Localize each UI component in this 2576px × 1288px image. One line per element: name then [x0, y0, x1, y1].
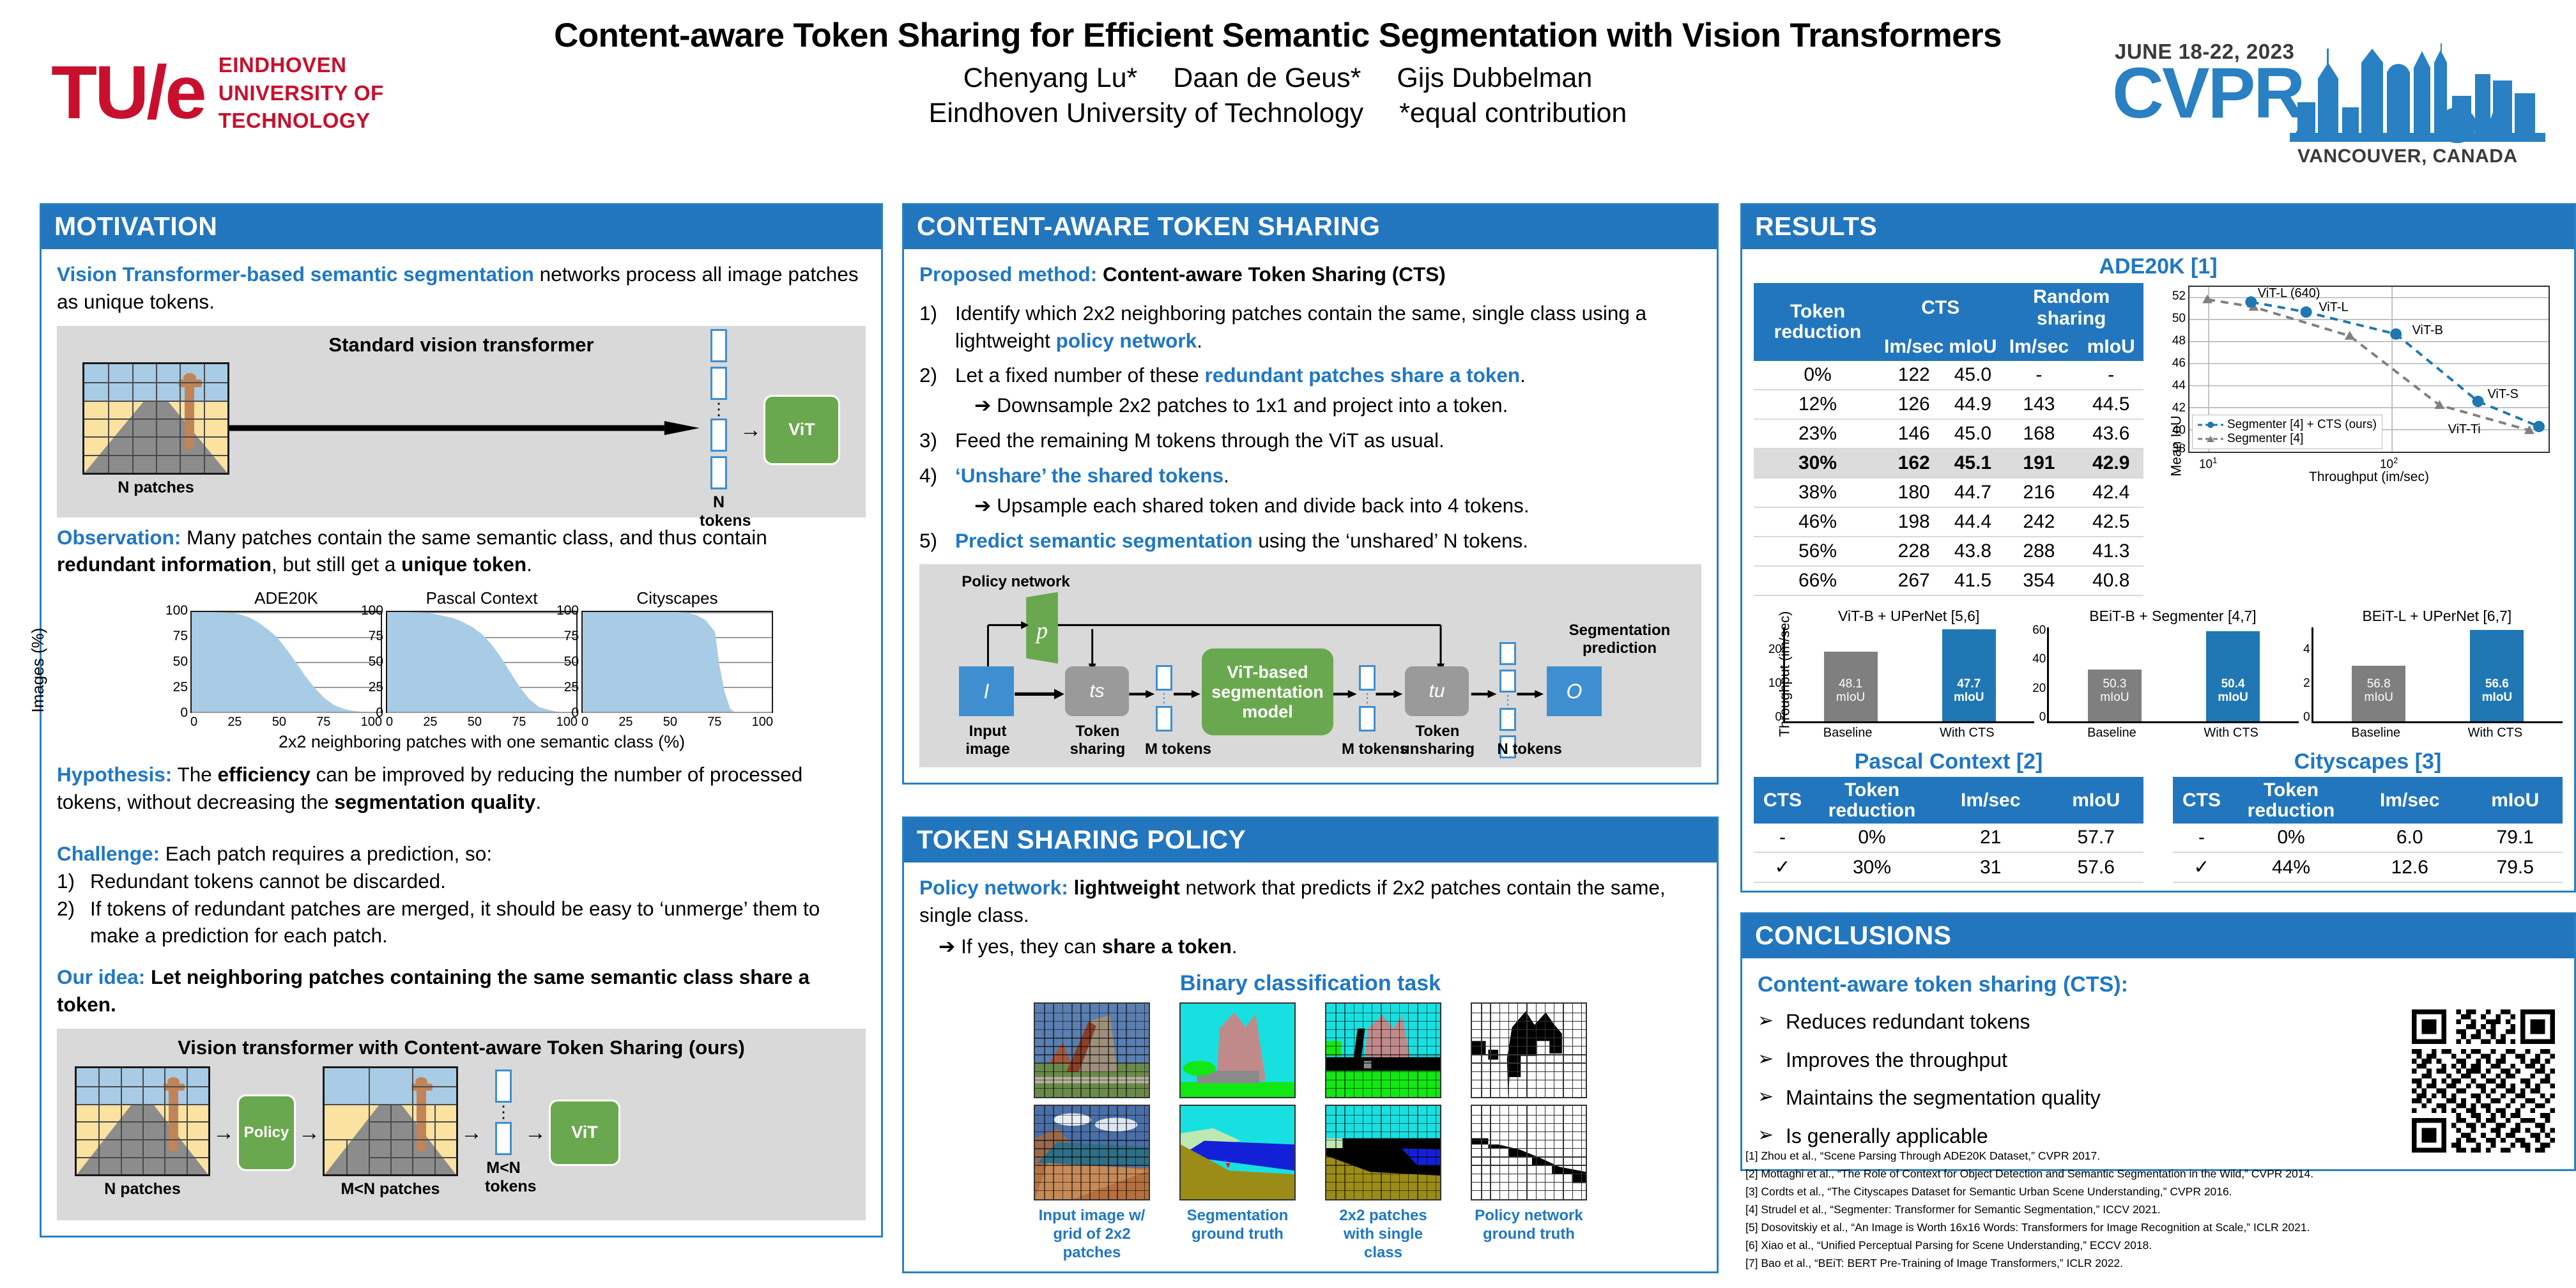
histogram-plot-2	[581, 611, 773, 713]
tradeoff-xticks: 101 102	[2188, 456, 2550, 470]
legend-item-cts: Segmenter [4] + CTS (ours)	[2198, 418, 2377, 432]
cell-token-reduction: 23%	[1754, 419, 1882, 448]
reference-item: [7] Bao et al., “BEiT: BERT Pre-Training…	[1745, 1254, 2576, 1272]
motivation-intro: Vision Transformer-based semantic segmen…	[57, 261, 866, 316]
challenge-label: Challenge:	[57, 842, 160, 865]
tue-logo-line3: TECHNOLOGY	[218, 107, 384, 135]
motivation-challenge-intro: Challenge: Each patch requires a predict…	[57, 840, 866, 868]
bar-xlabel-with-cts: With CTS	[2468, 726, 2523, 740]
annotation-vit-ti: ViT-Ti	[2448, 422, 2481, 437]
grid-overlay	[84, 364, 227, 473]
qr-code-icon[interactable]	[2412, 1009, 2555, 1153]
table-ade20k-body: 0% 122 45.0 - - 12% 126 44.9 143	[1754, 361, 2143, 595]
th-miou: mIoU	[2467, 777, 2563, 824]
cell-cts-imsec: 180	[1882, 478, 1946, 507]
thumbnail-caption-segmentation: Segmentation ground truth	[1179, 1207, 1296, 1244]
observation-label: Observation:	[57, 526, 181, 549]
policy-description: Policy network: lightweight network that…	[919, 874, 1701, 929]
figure-cts-pipeline: Policy network	[919, 564, 1701, 767]
observation-text-1: Many patches contain the same semantic c…	[181, 526, 767, 549]
conclusion-item-text: Is generally applicable	[1786, 1123, 1988, 1151]
cell-rnd-miou: 42.4	[2078, 478, 2143, 507]
motivation-intro-bold: Vision Transformer-based semantic segmen…	[57, 263, 534, 286]
cts-step-highlight: policy network	[1056, 329, 1197, 352]
bar-chart-vitb-upernet: ViT-B + UPerNet [5,6] 01020 48.1 mIoU 47…	[1783, 608, 2034, 740]
chevron-right-icon: ➢	[1758, 1008, 1786, 1036]
figure2-label-tokens: M<N tokens	[485, 1159, 522, 1196]
equal-contribution-note: *equal contribution	[1399, 98, 1627, 128]
cell-rnd-miou: -	[2078, 361, 2143, 390]
cell-cts: -	[1754, 824, 1811, 852]
motivation-body: Vision Transformer-based semantic segmen…	[42, 249, 881, 1236]
pipeline-token-sharing-node: ts	[1065, 666, 1129, 716]
cell-cts-imsec: 126	[1882, 390, 1946, 419]
chart-generality-bars: Throughput (im/sec) ViT-B + UPerNet [5,6…	[1754, 608, 2563, 740]
patch-grid-overlay	[1472, 1004, 1586, 1097]
cts-step-highlight: ‘Unshare’ the shared tokens	[955, 464, 1223, 487]
proposed-method-value: Content-aware Token Sharing (CTS)	[1097, 263, 1445, 286]
bar-xlabel-baseline: Baseline	[2351, 726, 2400, 740]
annotation-vit-s: ViT-S	[2487, 387, 2518, 402]
affiliation: Eindhoven University of Technology	[929, 98, 1363, 128]
cell-imsec: 12.6	[2352, 852, 2467, 882]
cts-step-number: 3)	[919, 427, 955, 454]
hypothesis-end: .	[535, 790, 541, 813]
th-cts: CTS	[1754, 777, 1811, 824]
pipeline-diagram: Policy network	[919, 564, 1701, 775]
policy-substep-end: .	[1232, 935, 1238, 958]
pipeline-input-node: I	[959, 666, 1014, 716]
bar-xlabel-baseline: Baseline	[1823, 726, 1873, 740]
legend-item-baseline: Segmenter [4]	[2198, 432, 2377, 446]
patch-grid-overlay	[1472, 1106, 1586, 1199]
cell-token-reduction: 0%	[1811, 824, 1933, 852]
conclusions-heading: CONCLUSIONS	[1742, 914, 2574, 958]
panel-conclusions: CONCLUSIONS Content-aware token sharing …	[1740, 912, 2576, 1171]
table-ade20k-wrapper: Token reduction CTS Random sharing Im/se…	[1754, 283, 2143, 596]
policy-network-label: Policy network:	[919, 876, 1068, 899]
figure-cts-vit: Vision transformer with Content-aware To…	[57, 1029, 866, 1220]
reference-item: [3] Cordts et al., “The Cityscapes Datas…	[1745, 1183, 2576, 1200]
cts-step: 1) Identify which 2x2 neighboring patche…	[919, 300, 1701, 355]
chevron-right-icon: ➢	[1758, 1123, 1786, 1151]
bar-yticks-0: 01020	[1764, 622, 1782, 717]
reference-item: [1] Zhou et al., “Scene Parsing Through …	[1745, 1147, 2576, 1165]
th-token-reduction: Token reduction	[1754, 283, 1882, 361]
table-row: 38% 180 44.7 216 42.4	[1754, 478, 2143, 507]
table-row: - 0% 6.0 79.1	[2173, 824, 2563, 852]
table-row: 23% 146 45.0 168 43.6	[1754, 419, 2143, 448]
patch-grid-overlay	[1326, 1004, 1440, 1097]
our-idea-text: Let neighboring patches containing the s…	[57, 965, 809, 1016]
table-pascal-wrapper: Pascal Context [2] CTS Token reduction I…	[1754, 749, 2143, 883]
table-cityscapes-body: - 0% 6.0 79.1 ✓ 44% 12.6 79.5	[2173, 824, 2563, 882]
arrow-right-icon	[229, 420, 700, 436]
thumbnail-seg-beach	[1179, 1105, 1296, 1200]
cityscapes-title: Cityscapes [3]	[2173, 749, 2563, 774]
secondary-tables-row: Pascal Context [2] CTS Token reduction I…	[1754, 749, 2563, 883]
bar-chart-title-1: BEiT-B + Segmenter [4,7]	[2047, 608, 2298, 625]
challenge-item: 1)Redundant tokens cannot be discarded.	[57, 868, 866, 895]
table-row: - 0% 21 57.7	[1754, 824, 2143, 852]
cts-step-number: 5)	[919, 527, 955, 555]
cts-step-substep: ➔ Upsample each shared token and divide …	[955, 492, 1701, 519]
policy-body: Policy network: lightweight network that…	[904, 862, 1717, 1271]
histogram-xticks-1: 0255075100	[386, 715, 578, 730]
histogram-ylabel: Images (%)	[28, 628, 48, 713]
reference-item: [2] Mottaghi et al., “The Role of Contex…	[1745, 1165, 2576, 1183]
cell-rnd-imsec: 288	[1999, 537, 2078, 566]
cell-rnd-imsec: 191	[1999, 448, 2078, 478]
pipeline-label-unsharing: Token unsharing	[1400, 723, 1475, 758]
pipeline-model-node: ViT-based segmentation model	[1202, 648, 1333, 735]
cts-step-substep: ➔ Downsample 2x2 patches to 1x1 and proj…	[955, 392, 1701, 419]
patch-grid-after	[323, 1066, 458, 1176]
cell-rnd-miou: 44.5	[2078, 390, 2143, 419]
bar-value-label: 56.8 mIoU	[2365, 678, 2393, 705]
cell-token-reduction: 44%	[2230, 852, 2352, 882]
our-idea-label: Our idea:	[57, 965, 145, 988]
cell-rnd-miou: 42.5	[2078, 507, 2143, 537]
conclusion-item-text: Reduces redundant tokens	[1786, 1008, 2030, 1036]
cell-cts: ✓	[1754, 852, 1811, 882]
figure-standard-vit: Standard vision transformer	[57, 326, 866, 517]
motivation-hypothesis: Hypothesis: The efficiency can be improv…	[57, 761, 866, 816]
cts-step-number: 2)	[919, 362, 955, 419]
challenge-item-number: 1)	[57, 868, 90, 895]
histogram-plot-0	[190, 611, 382, 713]
pipeline-label-n-tokens: N tokens	[1482, 740, 1577, 758]
table-cityscapes-wrapper: Cityscapes [3] CTS Token reduction Im/se…	[2173, 749, 2563, 883]
model-line-2: segmentation	[1211, 682, 1324, 702]
cts-step: 4) ‘Unshare’ the shared tokens. ➔ Upsamp…	[919, 462, 1701, 519]
table-cityscapes: CTS Token reduction Im/sec mIoU - 0% 6.0…	[2173, 777, 2563, 883]
cts-step-post: .	[1223, 464, 1229, 487]
hypothesis-bold-1: efficiency	[218, 763, 310, 786]
bar-xlabel-baseline: Baseline	[2087, 726, 2136, 740]
cell-cts-miou: 44.7	[1946, 478, 1999, 507]
histogram-xticks-0: 0255075100	[190, 715, 382, 730]
cts-step-body: Feed the remaining M tokens through the …	[955, 427, 1701, 454]
challenge-intro-text: Each patch requires a prediction, so:	[160, 842, 492, 865]
author-3: Gijs Dubbelman	[1397, 63, 1592, 94]
bar-with-cts: 47.7 mIoU	[1942, 629, 1996, 721]
th-cts-imsec: Im/sec	[1882, 333, 1946, 361]
histogram-yticks-0: 1007550250	[161, 611, 189, 713]
table-row: 46% 198 44.4 242 42.5	[1754, 507, 2143, 537]
cts-step-highlight: redundant patches share a token	[1205, 364, 1521, 387]
th-cts-group: CTS	[1882, 283, 1999, 333]
motivation-heading: MOTIVATION	[42, 205, 881, 249]
reference-item: [6] Xiao et al., “Unified Perceptual Par…	[1745, 1236, 2576, 1254]
annotation-vit-l-640: ViT-L (640)	[2258, 286, 2320, 301]
panel-content-aware-token-sharing: CONTENT-AWARE TOKEN SHARING Proposed met…	[902, 203, 1719, 785]
cts-step: 2) Let a fixed number of these redundant…	[919, 362, 1701, 419]
tradeoff-legend: Segmenter [4] + CTS (ours) Segmenter [4]	[2192, 415, 2382, 449]
tue-logo: TU/e EINDHOVEN UNIVERSITY OF TECHNOLOGY	[51, 51, 384, 135]
tradeoff-plot-area: ViT-L (640) ViT-L ViT-B ViT-S ViT-Ti Seg…	[2188, 286, 2550, 453]
thumbnail-caption-single-class: 2x2 patches with single class	[1325, 1207, 1441, 1262]
cts-step-body: ‘Unshare’ the shared tokens. ➔ Upsample …	[955, 462, 1701, 519]
bar-yticks-1: 0204060	[2028, 622, 2046, 717]
panel-motivation: MOTIVATION Vision Transformer-based sema…	[40, 203, 883, 1238]
model-line-1: ViT-based	[1227, 663, 1308, 682]
cts-heading: CONTENT-AWARE TOKEN SHARING	[904, 205, 1717, 249]
conclusion-item-text: Improves the throughput	[1786, 1046, 2007, 1075]
pipeline-label-sharing: Token sharing	[1060, 723, 1135, 758]
poster-root: TU/e EINDHOVEN UNIVERSITY OF TECHNOLOGY …	[0, 0, 2576, 1288]
legend-marker-triangle-icon	[2198, 435, 2223, 443]
policy-substep: ➔ If yes, they can share a token.	[919, 933, 1701, 960]
token-column-standard: ⋮	[700, 329, 738, 490]
table-header-row: CTS Token reduction Im/sec mIoU	[1754, 777, 2143, 824]
pascal-title: Pascal Context [2]	[1754, 749, 2143, 774]
cell-cts-imsec: 228	[1882, 537, 1946, 566]
vit-box-cts: ViT	[549, 1100, 620, 1166]
patch-grid-standard	[82, 362, 229, 475]
histogram-yticks-2: 1007550250	[552, 611, 580, 713]
policy-column-segmentation: Segmentation ground truth	[1179, 1002, 1296, 1262]
svg-text:p: p	[1034, 617, 1048, 644]
histogram-cityscapes: Cityscapes 1007550250	[581, 588, 773, 730]
tradeoff-yticks: 52 50 48 46 44 42 40 38	[2166, 286, 2187, 453]
th-random-sharing-group: Random sharing	[1999, 283, 2143, 333]
cts-step-body: Predict semantic segmentation using the …	[955, 527, 1701, 555]
patch-grid-overlay	[1035, 1004, 1149, 1097]
cell-imsec: 6.0	[2352, 824, 2467, 852]
annotation-vit-b: ViT-B	[2412, 323, 2443, 338]
grid-overlay	[77, 1068, 208, 1174]
challenge-item-number: 2)	[57, 895, 90, 950]
bar-xlabels-1: Baseline With CTS	[2047, 726, 2298, 740]
cell-cts-miou: 45.1	[1946, 448, 1999, 478]
observation-bold-2: unique token	[401, 553, 526, 576]
histogram-title-0: ADE20K	[190, 588, 382, 608]
cell-cts-miou: 44.9	[1946, 390, 1999, 419]
histogram-xlabel: 2x2 neighboring patches with one semanti…	[98, 732, 866, 752]
thumbnail-input-beach	[1034, 1105, 1150, 1200]
cell-rnd-miou: 40.8	[2078, 566, 2143, 595]
patch-grid-overlay	[1326, 1106, 1440, 1199]
thumbnail-single-class-beach	[1325, 1105, 1441, 1200]
table-row: 56% 228 43.8 288 41.3	[1754, 537, 2143, 566]
pipeline-tokens-m2: ⋮	[1359, 665, 1376, 732]
cell-cts-miou: 44.4	[1946, 507, 1999, 537]
th-rnd-imsec: Im/sec	[1999, 333, 2078, 361]
tue-logo-words: EINDHOVEN UNIVERSITY OF TECHNOLOGY	[218, 51, 384, 135]
policy-column-input: Input image w/ grid of 2x2 patches	[1034, 1002, 1150, 1262]
cell-rnd-miou: 43.6	[2078, 419, 2143, 448]
cts-step: 5) Predict semantic segmentation using t…	[919, 527, 1701, 555]
hypothesis-text-1: The	[172, 763, 217, 786]
chevron-right-icon: ➢	[1758, 1046, 1786, 1075]
policy-column-ground-truth: Policy network ground truth	[1471, 1002, 1587, 1262]
thumbnail-seg-house	[1179, 1002, 1296, 1098]
cell-rnd-imsec: 242	[1999, 507, 2078, 537]
cvpr-name: CVPR	[2112, 57, 2303, 129]
conclusions-body: Content-aware token sharing (CTS): ➢Redu…	[1742, 958, 2574, 1169]
histogram-plot-1	[386, 611, 578, 713]
token-column-reduced: ⋮	[485, 1069, 522, 1155]
tradeoff-xlabel: Throughput (im/sec)	[2188, 470, 2550, 485]
bar-chart-beitl-upernet: BEiT-L + UPerNet [6,7] 024 56.8 mIoU 56.…	[2311, 608, 2563, 740]
cell-token-reduction: 30%	[1811, 852, 1933, 882]
patch-grid-before	[75, 1066, 210, 1176]
cts-step-number: 1)	[919, 300, 955, 355]
cts-step-number: 4)	[919, 462, 955, 519]
bar-chart-beitb-segmenter: BEiT-B + Segmenter [4,7] 0204060 50.3 mI…	[2047, 608, 2298, 740]
cts-body: Proposed method: Content-aware Token Sha…	[904, 249, 1717, 783]
binary-classification-title: Binary classification task	[919, 971, 1701, 996]
observation-text-2: , but still get a	[272, 553, 401, 576]
motivation-observation: Observation: Many patches contain the sa…	[57, 524, 866, 579]
cell-rnd-miou: 42.9	[2078, 448, 2143, 478]
bar-group-0: 48.1 mIoU 47.7 mIoU	[1783, 627, 2034, 723]
thumbnail-policy-gt-house	[1471, 1002, 1587, 1098]
cell-token-reduction: 12%	[1754, 390, 1882, 419]
cvpr-logo: JUNE 18-22, 2023 CVPR VANCOUVER, CANADA	[2098, 24, 2558, 171]
cell-rnd-imsec: -	[1999, 361, 2078, 390]
thumbnail-input-house	[1034, 1002, 1150, 1098]
cell-rnd-imsec: 216	[1999, 478, 2078, 507]
th-imsec: Im/sec	[1933, 777, 2048, 824]
cell-token-reduction: 46%	[1754, 507, 1882, 537]
cell-cts-imsec: 146	[1882, 419, 1946, 448]
figure2-label-patches: N patches	[75, 1180, 210, 1199]
hypothesis-bold-2: segmentation quality	[334, 790, 535, 813]
bar-baseline: 48.1 mIoU	[1824, 652, 1878, 721]
bar-with-cts: 56.6 mIoU	[2470, 630, 2524, 721]
th-miou: mIoU	[2048, 777, 2143, 824]
tue-logo-line1: EINDHOVEN	[218, 51, 384, 79]
panel-results: RESULTS ADE20K [1] Token reduction CTS R…	[1740, 203, 2576, 893]
policy-bold-lightweight: lightweight	[1068, 876, 1180, 899]
legend-label-cts: Segmenter [4] + CTS (ours)	[2227, 418, 2377, 432]
cell-miou: 57.7	[2048, 824, 2143, 852]
reference-item: [4] Strudel et al., “Segmenter: Transfor…	[1745, 1200, 2576, 1218]
figure-standard-vit-title: Standard vision transformer	[57, 326, 866, 356]
thumbnail-caption-policy-gt: Policy network ground truth	[1471, 1207, 1587, 1244]
patch-grid-overlay	[1035, 1106, 1149, 1199]
cts-step-highlight: Predict semantic segmentation	[955, 529, 1253, 552]
vit-box-standard: ViT	[763, 395, 840, 465]
motivation-our-idea: Our idea: Let neighboring patches contai…	[57, 963, 866, 1018]
conclusion-item-text: Maintains the segmentation quality	[1786, 1084, 2101, 1112]
observation-bold-1: redundant information	[57, 553, 272, 576]
policy-substep-arrow: ➔ If yes, they can	[939, 935, 1102, 958]
cts-step-body: Let a fixed number of these redundant pa…	[955, 362, 1701, 419]
proposed-method-label: Proposed method:	[919, 263, 1097, 286]
poster-header: TU/e EINDHOVEN UNIVERSITY OF TECHNOLOGY …	[0, 0, 2576, 192]
table-row: 66% 267 41.5 354 40.8	[1754, 566, 2143, 595]
bar-baseline: 56.8 mIoU	[2352, 666, 2405, 721]
bar-value-label: 48.1 mIoU	[1836, 678, 1865, 705]
table-row: 12% 126 44.9 143 44.5	[1754, 390, 2143, 419]
cell-cts-imsec: 122	[1882, 361, 1946, 390]
bar-xlabels-2: Baseline With CTS	[2311, 726, 2563, 740]
bar-group-2: 56.8 mIoU 56.6 mIoU	[2311, 627, 2563, 723]
table-header-group-row: Token reduction CTS Random sharing	[1754, 283, 2143, 333]
cell-rnd-imsec: 168	[1999, 419, 2078, 448]
cell-cts-imsec: 162	[1882, 448, 1946, 478]
challenge-item-text: Redundant tokens cannot be discarded.	[90, 868, 446, 895]
cvpr-location: VANCOUVER, CANADA	[2297, 146, 2518, 167]
cell-token-reduction: 38%	[1754, 478, 1882, 507]
th-cts-miou: mIoU	[1946, 333, 1999, 361]
observation-end: .	[526, 553, 532, 576]
policy-box: Policy	[237, 1094, 296, 1171]
author-list: Chenyang Lu*Daan de Geus*Gijs Dubbelman	[460, 63, 2096, 94]
references-block: [1] Zhou et al., “Scene Parsing Through …	[1745, 1147, 2576, 1272]
pipeline-output-node: O	[1547, 666, 1602, 716]
thumbnail-single-class-house	[1325, 1002, 1441, 1098]
bar-group-1: 50.3 mIoU 50.4 mIoU	[2047, 627, 2298, 723]
conclusions-lead: Content-aware token sharing (CTS):	[1758, 970, 2559, 999]
cell-miou: 57.6	[2048, 852, 2143, 882]
cell-rnd-miou: 41.3	[2078, 537, 2143, 566]
pipeline-label-m-tokens-1: M tokens	[1130, 740, 1226, 758]
challenge-item: 2)If tokens of redundant patches are mer…	[57, 895, 866, 950]
challenge-list: 1)Redundant tokens cannot be discarded. …	[57, 868, 866, 949]
bar-yticks-2: 024	[2292, 622, 2310, 717]
cell-token-reduction: 66%	[1754, 566, 1882, 595]
cts-step-pre: Feed the remaining M tokens through the …	[955, 429, 1445, 452]
results-heading: RESULTS	[1742, 205, 2574, 249]
title-block: Content-aware Token Sharing for Efficien…	[460, 18, 2096, 129]
cell-cts: ✓	[2173, 852, 2230, 882]
chart-motivation-histograms: Images (%) ADE20K 1007550250	[57, 588, 866, 752]
cts-step-pre: Let a fixed number of these	[955, 364, 1205, 387]
histogram-title-1: Pascal Context	[386, 588, 578, 608]
cell-cts-miou: 43.8	[1946, 537, 1999, 566]
policy-substep-bold: share a token	[1102, 935, 1232, 958]
panel-token-sharing-policy: TOKEN SHARING POLICY Policy network: lig…	[902, 816, 1719, 1273]
page-title: Content-aware Token Sharing for Efficien…	[460, 18, 2096, 54]
chevron-right-icon: ➢	[1758, 1084, 1786, 1112]
annotation-vit-l: ViT-L	[2319, 300, 2348, 315]
figure-cts-vit-title: Vision transformer with Content-aware To…	[57, 1029, 866, 1059]
table-row: 0% 122 45.0 - -	[1754, 361, 2143, 390]
cell-cts: -	[2173, 824, 2230, 852]
ade20k-title: ADE20K [1]	[1754, 254, 2563, 279]
histogram-yticks-1: 1007550250	[356, 611, 385, 713]
cts-step-body: Identify which 2x2 neighboring patches c…	[955, 300, 1701, 355]
histogram-row: ADE20K 1007550250	[98, 588, 866, 730]
table-header-row: CTS Token reduction Im/sec mIoU	[2173, 777, 2563, 824]
policy-heading: TOKEN SHARING POLICY	[904, 818, 1717, 862]
cell-imsec: 31	[1933, 852, 2048, 882]
cts-proposed-method: Proposed method: Content-aware Token Sha…	[919, 261, 1701, 288]
bar-xlabel-with-cts: With CTS	[2204, 726, 2258, 740]
legend-marker-circle-icon	[2198, 421, 2223, 429]
cell-cts-miou: 45.0	[1946, 361, 1999, 390]
table-row: ✓ 44% 12.6 79.5	[2173, 852, 2563, 882]
cts-step-post: using the ‘unshared’ N tokens.	[1253, 529, 1528, 552]
cts-steps-list: 1) Identify which 2x2 neighboring patche…	[919, 300, 1701, 555]
figure1-label-patches: N patches	[82, 479, 229, 497]
histogram-title-2: Cityscapes	[581, 588, 773, 608]
histogram-pascal: Pascal Context 1007550250	[386, 588, 578, 730]
figure2-label-patches-reduced: M<N patches	[323, 1180, 458, 1199]
tue-logo-mark: TU/e	[51, 58, 204, 128]
table-row: ✓ 30% 31 57.6	[1754, 852, 2143, 882]
table-pascal-context: CTS Token reduction Im/sec mIoU - 0% 21 …	[1754, 777, 2143, 883]
th-cts: CTS	[2173, 777, 2230, 824]
cell-token-reduction: 0%	[2230, 824, 2352, 852]
cell-token-reduction: 30%	[1754, 448, 1882, 478]
th-rnd-miou: mIoU	[2078, 333, 2143, 361]
thumbnail-policy-gt-beach	[1471, 1105, 1587, 1200]
